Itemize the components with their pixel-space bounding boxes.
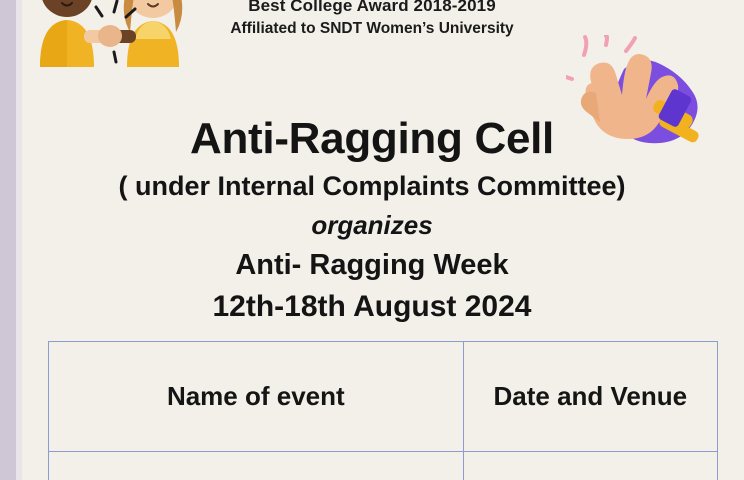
events-table: Name of event Date and Venue 12th to 18t… (48, 341, 718, 480)
events-table-head: Name of event Date and Venue (49, 342, 718, 452)
column-header-date-and-venue: Date and Venue (463, 342, 717, 452)
events-table-body: 12th to 18th August (49, 452, 718, 480)
table-header-row: Name of event Date and Venue (49, 342, 718, 452)
cell-date-venue: 12th to 18th August (463, 452, 717, 480)
table-row: 12th to 18th August (49, 452, 718, 480)
page-subtitle: ( under Internal Complaints Committee) (0, 171, 744, 202)
poster-page: Best College Award 2018-2019 Affiliated … (0, 0, 744, 480)
affiliation-line: Affiliated to SNDT Women’s University (0, 20, 744, 38)
award-line: Best College Award 2018-2019 (0, 0, 744, 16)
page-title: Anti-Ragging Cell (0, 114, 744, 164)
event-name: Anti- Ragging Week (0, 249, 744, 282)
organizes-label: organizes (0, 210, 744, 241)
column-header-name-of-event: Name of event (49, 342, 464, 452)
cell-event-name (49, 452, 464, 480)
events-table-wrapper: Name of event Date and Venue 12th to 18t… (48, 341, 718, 480)
event-dates: 12th-18th August 2024 (0, 290, 744, 324)
